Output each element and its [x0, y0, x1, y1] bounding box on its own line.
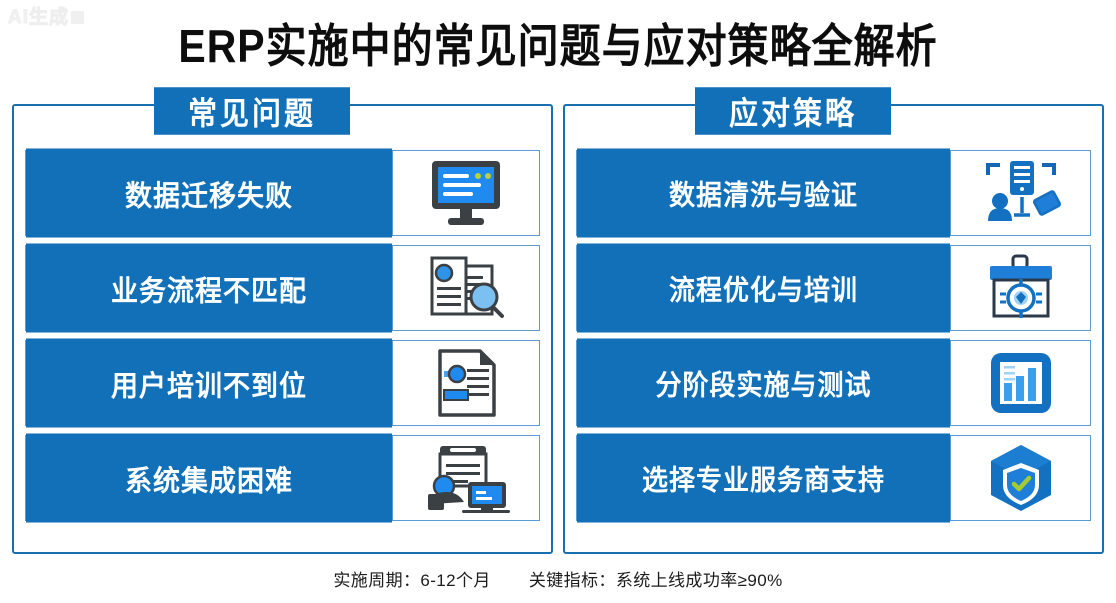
problem-row[interactable]: 用户培训不到位 — [25, 340, 540, 426]
person-workstation-icon — [392, 436, 539, 520]
ai-generated-watermark: AI生成 — [8, 2, 84, 29]
problem-row[interactable]: 系统集成困难 — [25, 435, 540, 521]
strategy-row[interactable]: 分阶段实施与测试 — [576, 340, 1091, 426]
problem-label: 业务流程不匹配 — [26, 243, 392, 332]
strategy-row[interactable]: 选择专业服务商支持 — [576, 435, 1091, 521]
documents-magnifier-icon — [392, 246, 539, 330]
comparison-board: 常见问题 数据迁移失败 业务流程不匹配 — [0, 104, 1116, 554]
problem-label: 用户培训不到位 — [26, 338, 392, 427]
server-user-scan-icon — [950, 151, 1090, 235]
shield-hexagon-check-icon — [950, 436, 1090, 520]
problem-label: 系统集成困难 — [26, 433, 392, 522]
panel-response-strategies: 应对策略 数据清洗与验证 — [563, 104, 1104, 554]
bar-chart-icon — [950, 341, 1090, 425]
footer-metric-kpi: 关键指标：系统上线成功率≥90% — [529, 571, 783, 590]
panel-header-common-problems: 常见问题 — [154, 87, 350, 135]
strategy-label: 分阶段实施与测试 — [577, 338, 950, 427]
footer-metric-cycle: 实施周期：6-12个月 — [333, 571, 490, 590]
monitor-screen-icon — [392, 151, 539, 235]
panel-common-problems: 常见问题 数据迁移失败 业务流程不匹配 — [12, 104, 553, 554]
strategy-label: 选择专业服务商支持 — [577, 433, 950, 522]
problem-label: 数据迁移失败 — [26, 148, 392, 237]
document-profile-icon — [392, 341, 539, 425]
watermark-text: AI生成 — [8, 7, 69, 28]
page-title: ERP实施中的常见问题与应对策略全解析 — [0, 8, 1116, 75]
problem-row[interactable]: 数据迁移失败 — [25, 150, 540, 236]
problem-row[interactable]: 业务流程不匹配 — [25, 245, 540, 331]
strategy-label: 流程优化与培训 — [577, 243, 950, 332]
strategy-row[interactable]: 流程优化与培训 — [576, 245, 1091, 331]
watermark-mark-icon — [71, 11, 84, 24]
strategy-label: 数据清洗与验证 — [577, 148, 950, 237]
footer-metrics: 实施周期：6-12个月关键指标：系统上线成功率≥90% — [0, 566, 1116, 591]
toolbox-target-icon — [950, 246, 1090, 330]
panel-header-response-strategies: 应对策略 — [695, 87, 891, 135]
strategy-row[interactable]: 数据清洗与验证 — [576, 150, 1091, 236]
